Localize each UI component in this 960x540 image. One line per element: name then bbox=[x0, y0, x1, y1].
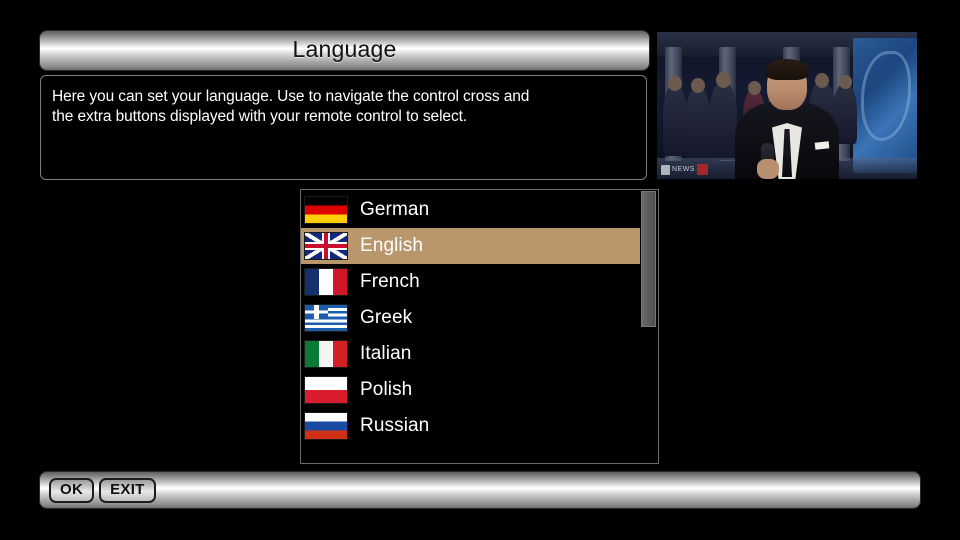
bug-block-red bbox=[697, 164, 708, 175]
station-bug-label: NEWS bbox=[672, 166, 695, 173]
list-item[interactable]: Russian bbox=[301, 408, 641, 444]
language-list-scrollbar[interactable] bbox=[640, 191, 657, 464]
bug-block bbox=[661, 165, 670, 175]
flag-it-icon bbox=[304, 340, 348, 368]
tv-settings-screen: Language Here you can set your language.… bbox=[0, 0, 960, 540]
preview-crowd-figure bbox=[663, 84, 687, 156]
flag-pl-icon bbox=[304, 376, 348, 404]
flag-gr-icon bbox=[304, 304, 348, 332]
list-item-label: French bbox=[360, 272, 420, 291]
preview-crowd-figure bbox=[685, 88, 711, 158]
page-title-bar: Language bbox=[40, 31, 649, 70]
preview-wall-panel bbox=[853, 38, 917, 173]
language-list-panel[interactable]: German English French Greek Italian Poli bbox=[300, 189, 659, 464]
list-item-label: Russian bbox=[360, 416, 429, 435]
list-item-label: Greek bbox=[360, 308, 412, 327]
reporter-pocket-square bbox=[815, 141, 830, 149]
preview-crowd-figure bbox=[709, 82, 737, 160]
flag-de-icon bbox=[304, 196, 348, 224]
softkey-bar: OK EXIT bbox=[40, 472, 920, 508]
list-item[interactable]: Italian bbox=[301, 336, 641, 372]
language-list: German English French Greek Italian Poli bbox=[301, 192, 641, 444]
exit-button-label: EXIT bbox=[110, 482, 145, 497]
list-item[interactable]: English bbox=[301, 228, 641, 264]
ok-button-label: OK bbox=[60, 482, 83, 497]
list-item-label: English bbox=[360, 236, 423, 255]
live-tv-preview[interactable]: NEWS bbox=[656, 31, 918, 180]
list-item[interactable]: Polish bbox=[301, 372, 641, 408]
description-panel: Here you can set your language. Use to n… bbox=[40, 75, 647, 180]
preview-crowd-head bbox=[815, 73, 829, 88]
list-item[interactable]: Greek bbox=[301, 300, 641, 336]
flag-gb-icon bbox=[304, 232, 348, 260]
flag-fr-icon bbox=[304, 268, 348, 296]
list-item[interactable]: French bbox=[301, 264, 641, 300]
list-item-label: Polish bbox=[360, 380, 412, 399]
exit-button[interactable]: EXIT bbox=[99, 478, 156, 503]
list-item-label: Italian bbox=[360, 344, 411, 363]
flag-ru-icon bbox=[304, 412, 348, 440]
ok-button[interactable]: OK bbox=[49, 478, 94, 503]
list-item[interactable]: German bbox=[301, 192, 641, 228]
preview-crowd-head bbox=[839, 75, 852, 89]
preview-crowd-head bbox=[748, 81, 761, 95]
station-logo-bug: NEWS bbox=[661, 164, 708, 175]
preview-crowd-head bbox=[668, 76, 682, 91]
preview-crowd-head bbox=[716, 72, 731, 88]
list-item-label: German bbox=[360, 200, 429, 219]
page-title: Language bbox=[293, 38, 397, 61]
description-text: Here you can set your language. Use to n… bbox=[52, 87, 633, 127]
reporter-hand bbox=[757, 159, 779, 179]
preview-crowd-head bbox=[691, 78, 705, 93]
scrollbar-thumb[interactable] bbox=[641, 191, 656, 327]
reporter-hair bbox=[766, 59, 808, 80]
